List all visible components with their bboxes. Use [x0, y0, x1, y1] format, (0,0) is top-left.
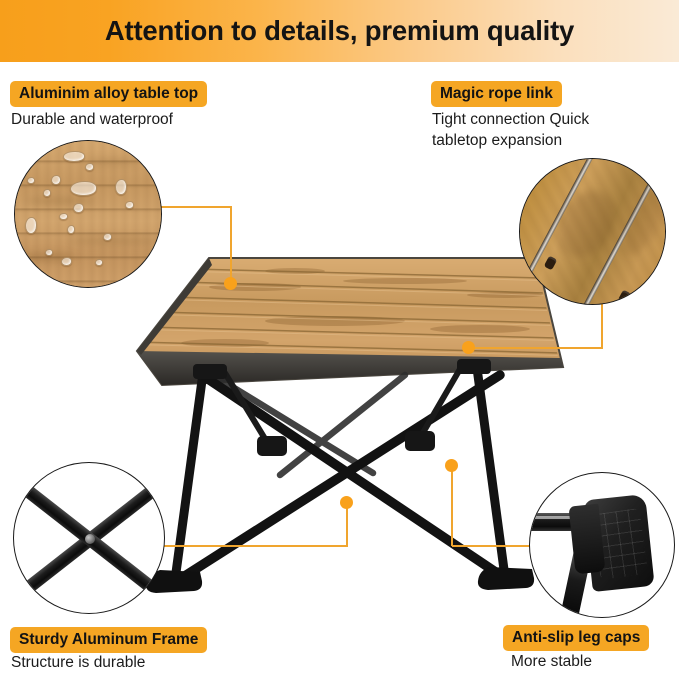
detail-circle-tabletop	[14, 140, 162, 288]
feature-subtitle-rope: Tight connection Quicktabletop expansion	[432, 110, 589, 151]
feature-badge-tabletop: Aluminim alloy table top	[10, 81, 207, 107]
water-droplet-icon	[85, 163, 94, 171]
connector-rope-vertical	[601, 300, 603, 349]
water-droplet-icon	[59, 213, 68, 220]
water-droplet-icon	[73, 203, 84, 213]
connector-legcap-vertical	[451, 465, 453, 546]
feature-subtitle-rope-line1: Tight connection Quick	[432, 111, 589, 128]
water-droplet-icon	[25, 217, 37, 234]
folding-table-illustration	[105, 225, 575, 625]
feature-badge-frame: Sturdy Aluminum Frame	[10, 627, 207, 653]
product-image	[105, 225, 575, 625]
table-leg-frame	[175, 368, 505, 580]
page-title: Attention to details, premium quality	[0, 0, 679, 62]
hotspot-dot-frame	[340, 496, 353, 509]
connector-frame-vertical	[346, 503, 348, 546]
hotspot-dot-rope	[462, 341, 475, 354]
feature-badge-rope: Magic rope link	[431, 81, 562, 107]
water-droplet-icon	[115, 179, 127, 195]
feature-subtitle-tabletop: Durable and waterproof	[11, 110, 173, 131]
water-droplet-icon	[125, 201, 134, 209]
feature-subtitle-frame: Structure is durable	[11, 653, 145, 673]
hotspot-dot-legcap	[445, 459, 458, 472]
connector-tabletop-horizontal	[160, 206, 232, 208]
detail-circle-frame	[13, 462, 165, 614]
feature-subtitle-legcap: More stable	[511, 652, 592, 673]
water-droplet-icon	[51, 175, 61, 185]
center-bolt-icon	[85, 534, 95, 544]
water-droplet-icon	[45, 249, 53, 256]
water-droplet-icon	[61, 257, 72, 266]
connector-frame-horizontal	[158, 545, 348, 547]
feature-badge-legcap: Anti-slip leg caps	[503, 625, 649, 651]
connector-rope-horizontal	[470, 347, 602, 349]
water-droplet-icon	[95, 259, 103, 266]
infographic-page: Attention to details, premium quality	[0, 0, 679, 673]
feature-subtitle-rope-line2: tabletop expansion	[432, 132, 562, 149]
anti-slip-feet	[146, 567, 534, 593]
water-droplet-icon	[70, 181, 97, 196]
water-droplet-icon	[63, 151, 85, 162]
hotspot-dot-tabletop	[224, 277, 237, 290]
connector-tabletop-vertical	[230, 206, 232, 285]
water-droplet-icon	[43, 189, 51, 197]
water-droplet-icon	[27, 177, 35, 184]
water-droplet-icon	[103, 233, 112, 241]
water-droplet-icon	[67, 225, 75, 234]
detail-circle-legcap	[529, 472, 675, 618]
detail-circle-rope-link	[519, 158, 666, 305]
